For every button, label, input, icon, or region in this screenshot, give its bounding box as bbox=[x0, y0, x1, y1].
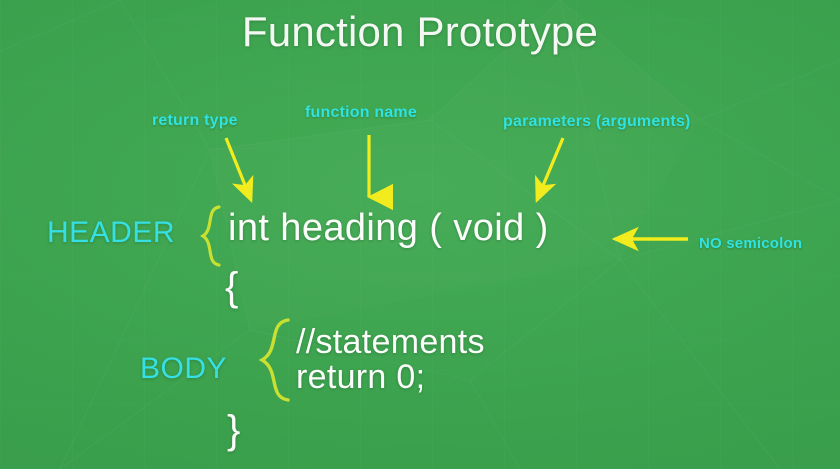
callout-no-semicolon: NO semicolon bbox=[699, 235, 802, 252]
page-title: Function Prototype bbox=[0, 8, 840, 56]
callout-parameters: parameters (arguments) bbox=[503, 113, 691, 131]
section-label-body: BODY bbox=[140, 352, 227, 386]
slide-canvas: Function Prototype return type function … bbox=[0, 0, 840, 469]
code-close-brace: } bbox=[227, 408, 240, 453]
section-label-header: HEADER bbox=[47, 216, 175, 250]
callout-return-type: return type bbox=[152, 112, 238, 130]
code-return-statement: return 0; bbox=[296, 358, 425, 397]
code-function-signature: int heading ( void ) bbox=[228, 207, 549, 250]
code-open-brace: { bbox=[225, 265, 238, 310]
code-statements-comment: //statements bbox=[296, 323, 485, 362]
callout-function-name: function name bbox=[305, 104, 417, 122]
